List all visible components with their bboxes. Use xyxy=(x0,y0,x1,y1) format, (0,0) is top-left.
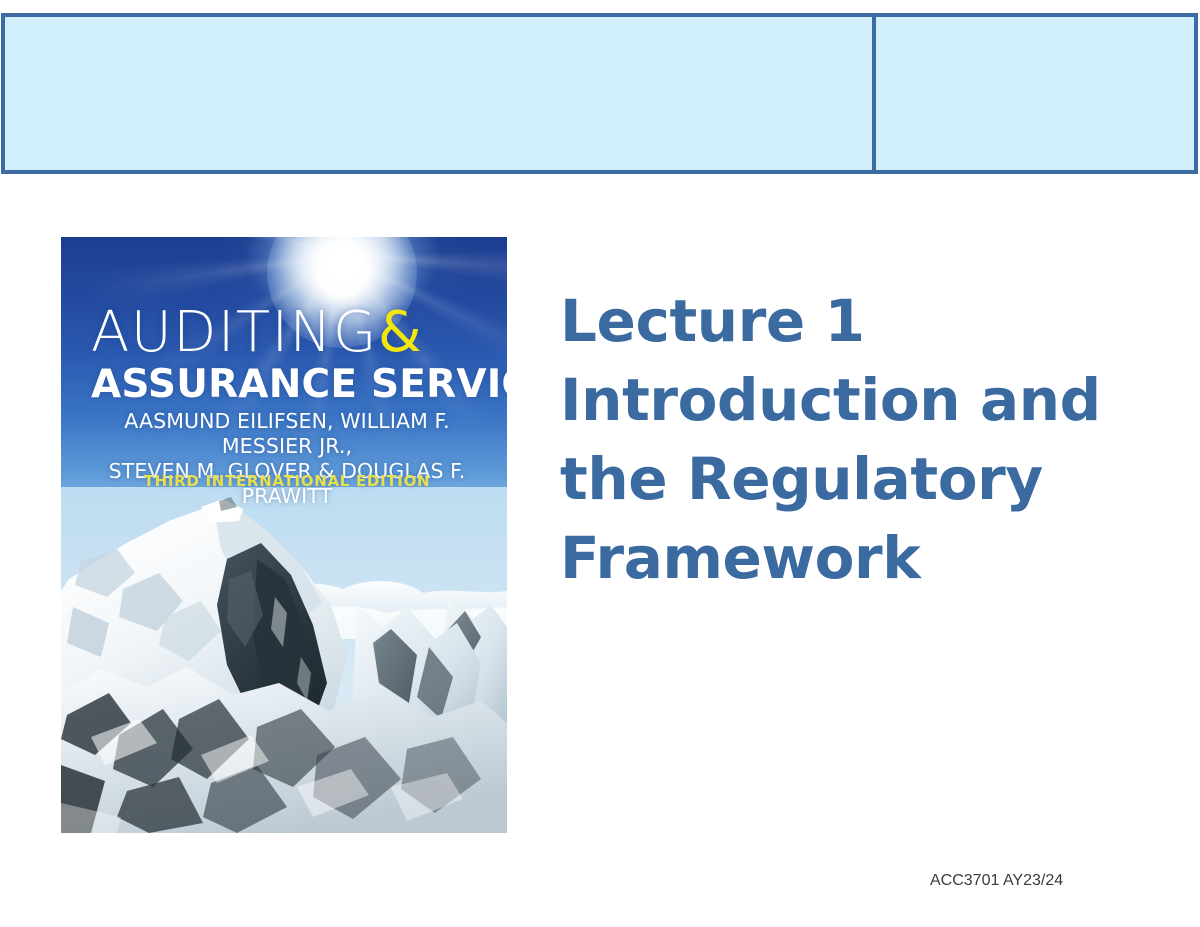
book-cover-authors: AASMUND EILIFSEN, WILLIAM F. MESSIER JR.… xyxy=(91,409,483,509)
book-cover-mountains xyxy=(61,487,507,833)
book-cover-title-word: AUDITING xyxy=(91,300,378,365)
book-cover-authors-line1: AASMUND EILIFSEN, WILLIAM F. MESSIER JR.… xyxy=(91,409,483,459)
book-cover-image: AUDITING& ASSURANCE SERVICES AASMUND EIL… xyxy=(61,237,507,833)
header-cell-right[interactable] xyxy=(876,17,1194,170)
slide-footer-course-code: ACC3701 AY23/24 xyxy=(930,872,1063,890)
slide-title: Lecture 1 Introduction and the Regulator… xyxy=(560,282,1160,598)
header-banner xyxy=(1,13,1198,174)
header-right-text xyxy=(876,17,1194,34)
book-cover-ampersand: & xyxy=(378,300,423,365)
header-left-text xyxy=(5,17,872,34)
book-cover-subtitle: ASSURANCE SERVICES xyxy=(91,365,491,404)
book-cover-title: AUDITING& xyxy=(91,305,491,361)
header-cell-left[interactable] xyxy=(5,17,876,170)
book-cover-edition: THIRD INTERNATIONAL EDITION xyxy=(91,472,483,490)
mountain-illustration xyxy=(61,487,507,833)
